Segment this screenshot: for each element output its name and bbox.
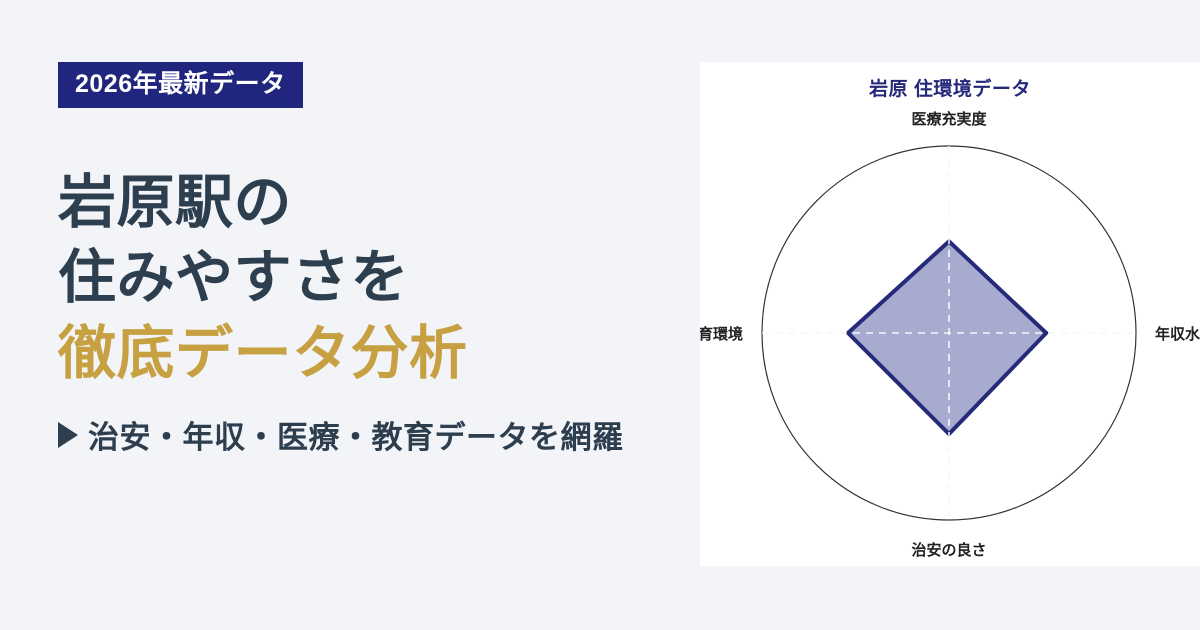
headline-line-1: 岩原駅の bbox=[58, 165, 700, 240]
axis-label-top: 医療充実度 bbox=[911, 110, 987, 128]
radar-data-polygon bbox=[848, 241, 1046, 434]
radar-chart-panel: 岩原 住環境データ 医療充実度 年収水準 治安の良さ 教育環境 bbox=[700, 62, 1200, 566]
headline-line-3: 徹底データ分析 bbox=[58, 316, 700, 391]
headline-line-2: 住みやすさを bbox=[58, 240, 700, 315]
page-title: 岩原駅の 住みやすさを 徹底データ分析 bbox=[58, 165, 700, 391]
latest-data-badge: 2026年最新データ bbox=[58, 62, 303, 108]
infographic-canvas: 2026年最新データ 岩原駅の 住みやすさを 徹底データ分析 治安・年収・医療・… bbox=[0, 0, 1200, 630]
triangle-right-icon bbox=[58, 422, 78, 448]
radar-gridlines-overlay bbox=[762, 146, 1136, 520]
axis-label-bottom: 治安の良さ bbox=[911, 541, 986, 559]
subtitle-text: 治安・年収・医療・教育データを網羅 bbox=[88, 412, 624, 457]
axis-label-left: 教育環境 bbox=[700, 325, 743, 343]
left-text-column: 2026年最新データ 岩原駅の 住みやすさを 徹底データ分析 治安・年収・医療・… bbox=[0, 0, 700, 630]
radar-chart-svg: 医療充実度 年収水準 治安の良さ 教育環境 bbox=[700, 62, 1200, 566]
axis-label-right: 年収水準 bbox=[1155, 325, 1200, 343]
subtitle: 治安・年収・医療・教育データを網羅 bbox=[58, 412, 700, 457]
